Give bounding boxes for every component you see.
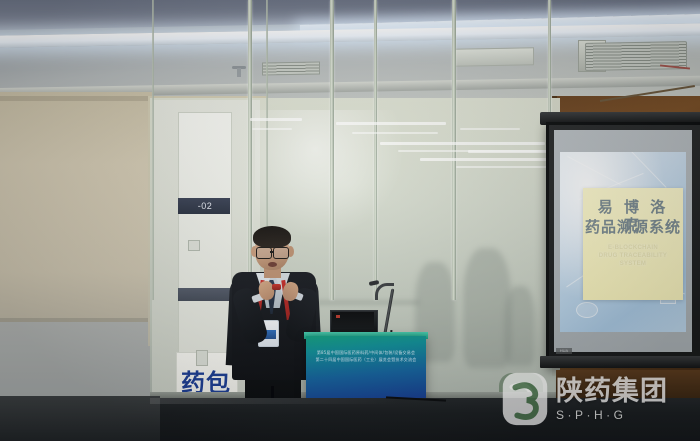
- interior-sign-band-lower: [178, 288, 230, 301]
- floor-reflection: [150, 398, 400, 404]
- slide-subtitle-en: E-BLOCKCHAIN DRUG TRACEABILITY SYSTEM: [585, 244, 681, 268]
- glass-mullion: [152, 0, 154, 300]
- ceiling-access-panel: [452, 47, 534, 66]
- podium-banner-line2: 第二十四届中国国际医药（工业）展览会暨技术交流会: [312, 357, 420, 363]
- watermark-brand-en: S·P·H·G: [556, 409, 668, 421]
- glass-decal-stripe: [336, 122, 446, 125]
- presentation-clicker[interactable]: [272, 284, 281, 290]
- background-figure: [463, 248, 511, 368]
- glass-decal-stripe: [252, 128, 292, 130]
- speaker-mouth: [268, 262, 277, 267]
- watermark-brand-cn: 陕药集团: [556, 378, 668, 405]
- floor-left: [0, 396, 160, 441]
- glass-decal-stripe: [250, 118, 302, 121]
- watermark: 陕药集团 S·P·H·G: [500, 366, 692, 432]
- interior-sign-panel: [178, 112, 232, 382]
- screen-brand-label: HUA: [556, 348, 572, 354]
- wall-socket-icon: [188, 240, 200, 251]
- background-figure: [505, 286, 535, 366]
- glass-mullion: [374, 0, 377, 300]
- eyeglasses-bridge: [270, 251, 274, 253]
- interior-poster-badge: [196, 350, 208, 366]
- wall-left-panel: [0, 92, 152, 332]
- microphone-gooseneck: [375, 283, 394, 300]
- watermark-text: 陕药集团 S·P·H·G: [556, 378, 668, 421]
- glass-mullion: [330, 0, 334, 300]
- slide-title-cn-line2: 药品溯源系统: [583, 218, 683, 236]
- laptop-indicator-light: [336, 315, 340, 318]
- speaker-hair: [253, 226, 291, 248]
- podium-banner-line1: 第85届中国国际医药原料药/中间体/包装/设备交易会: [312, 350, 420, 356]
- interior-sign-band-text: -02: [180, 199, 230, 213]
- slide-subtitle-line2: DRUG TRACEABILITY: [585, 252, 681, 260]
- hvac-vent-icon: [262, 61, 320, 75]
- eyeglasses-icon: [256, 247, 272, 259]
- glass-decal-stripe: [352, 132, 438, 134]
- screenshot-root: -02 药包: [0, 0, 700, 441]
- eyeglasses-icon: [273, 247, 289, 259]
- glass-decal-stripe: [456, 166, 552, 168]
- glass-decal-stripe: [460, 128, 520, 130]
- sprinkler-stem: [237, 68, 241, 77]
- glass-decal-stripe: [420, 158, 550, 161]
- slide-subtitle-line1: E-BLOCKCHAIN: [585, 244, 681, 252]
- watermark-logo-icon: [500, 371, 550, 427]
- glass-decal-stripe: [468, 150, 552, 153]
- glass-decal-stripe: [380, 142, 545, 145]
- wall-left-trim: [0, 96, 152, 101]
- slide-subtitle-line3: SYSTEM: [585, 260, 681, 268]
